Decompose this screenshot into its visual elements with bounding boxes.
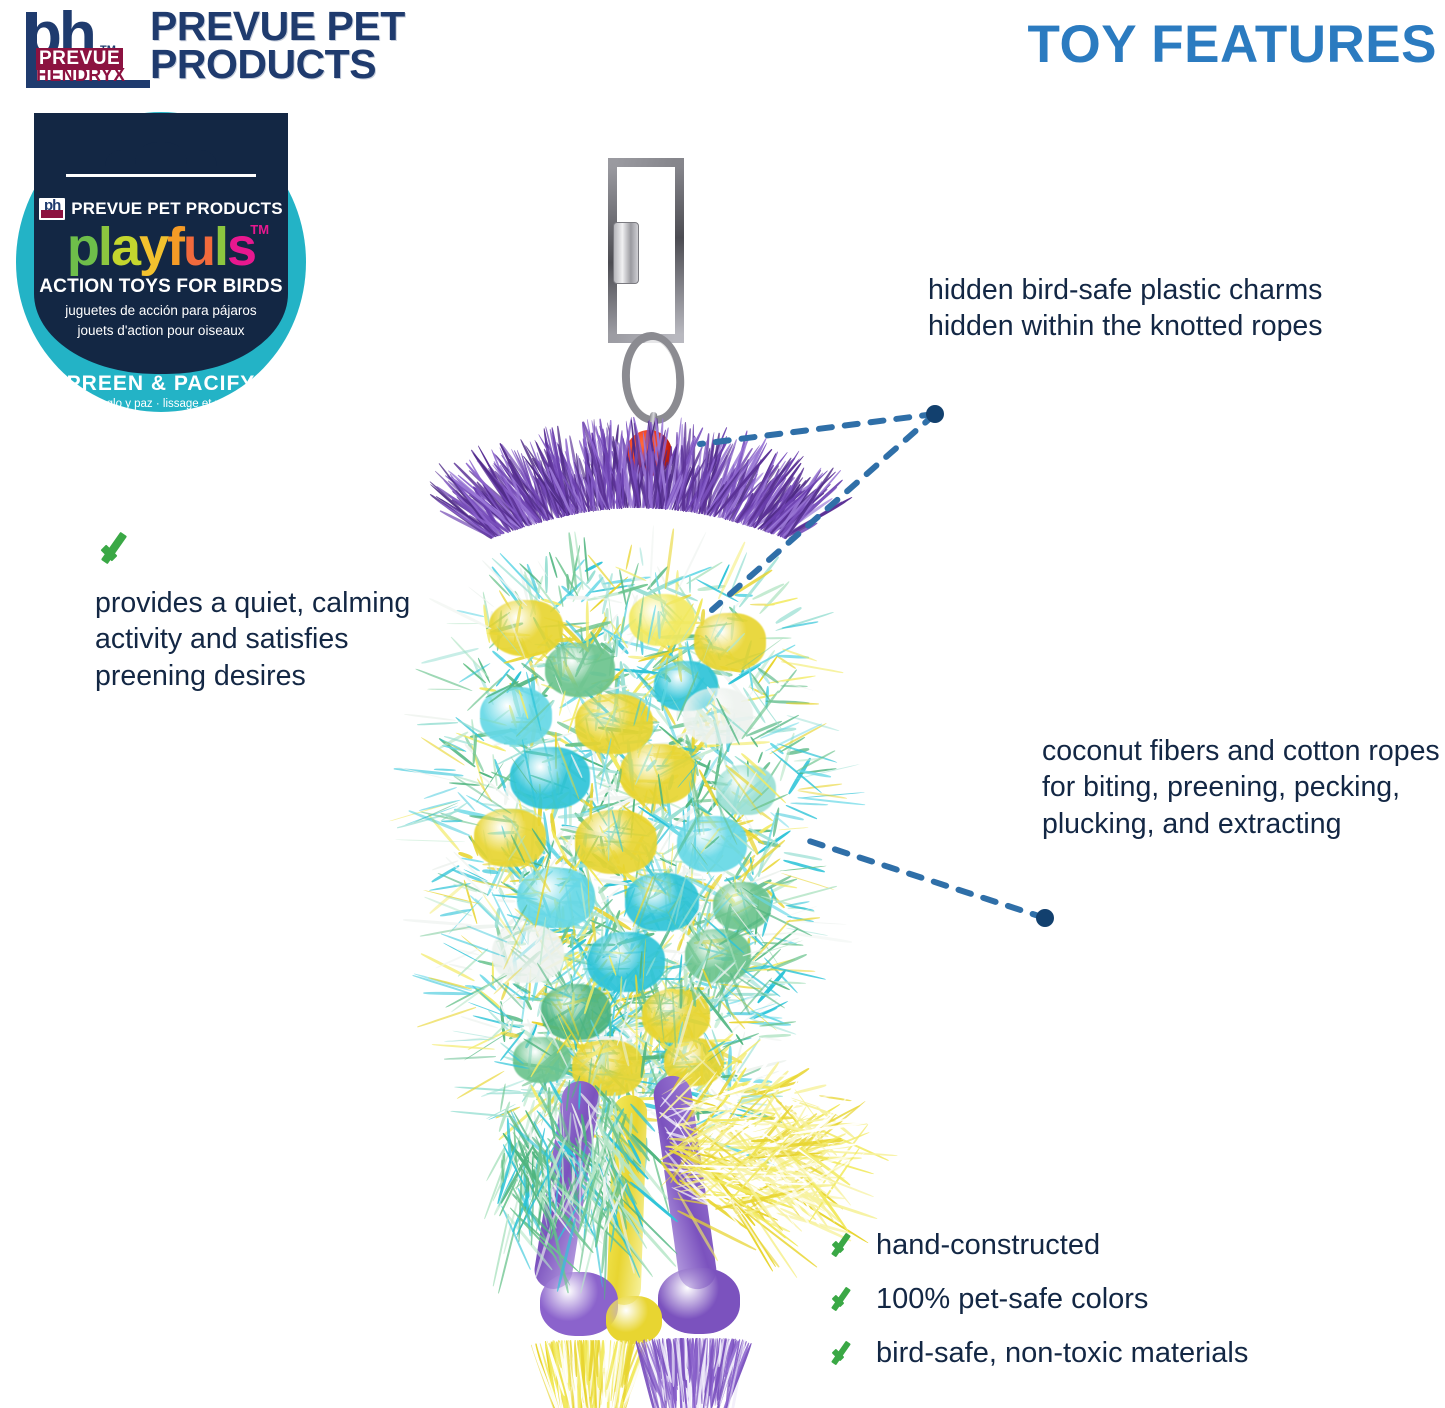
checklist-item: 100% pet-safe colors xyxy=(828,1282,1248,1316)
rope-wisp xyxy=(444,1056,496,1060)
rope-wisp xyxy=(784,851,822,861)
rope-wisp xyxy=(763,964,826,980)
badge-benefit-en: PREEN & PACIFY xyxy=(16,372,306,396)
prevue-hendryx-logo: ph TM PREVUE HENDRYX xyxy=(18,8,130,88)
leader-dot-charms xyxy=(926,405,944,423)
rope-wisp xyxy=(434,768,456,771)
knot-purple-right xyxy=(658,1268,740,1334)
leader-dot-coconut xyxy=(1036,909,1054,927)
badge-benefit-block: PREEN & PACIFY arreglo y paz · lissage e… xyxy=(16,372,306,410)
badge-tagline-en: ACTION TOYS FOR BIRDS xyxy=(16,276,306,298)
badge-tagline-fr: jouets d'action pour oiseaux xyxy=(16,322,306,340)
checklist-item: bird-safe, non-toxic materials xyxy=(828,1336,1248,1370)
product-image xyxy=(430,150,900,1400)
rope-wisp xyxy=(790,803,828,807)
rope-wisp xyxy=(418,722,459,726)
playfuls-badge: ph PREVUE PET PRODUCTS playfuls TM ACTIO… xyxy=(16,112,306,412)
rope-knot xyxy=(489,600,563,656)
badge-trademark: TM xyxy=(250,224,269,236)
rope-wisp xyxy=(763,1037,782,1042)
rope-knot xyxy=(575,810,657,874)
badge-tagline-es: juguetes de acción para pájaros xyxy=(16,302,306,320)
checklist-item: hand-constructed xyxy=(828,1228,1248,1262)
badge-brand-line: PREVUE PET PRODUCTS xyxy=(71,199,283,219)
rope-fiber xyxy=(482,869,498,874)
page-title: TOY FEATURES xyxy=(1028,14,1437,75)
badge-letter: u xyxy=(183,217,214,277)
badge-letter: l xyxy=(214,217,227,277)
checklist-item-label: 100% pet-safe colors xyxy=(876,1283,1148,1316)
badge-product-name: playfuls TM xyxy=(67,222,255,273)
badge-letter: y xyxy=(139,217,167,277)
checklist-item-label: bird-safe, non-toxic materials xyxy=(876,1337,1248,1370)
split-ring-highlight xyxy=(630,340,676,416)
rope-fiber xyxy=(497,899,515,903)
badge-letter: p xyxy=(67,217,98,277)
rope-wisp xyxy=(779,827,809,831)
rope-fiber xyxy=(758,752,765,764)
infographic-page: ph TM PREVUE HENDRYX PREVUE PET PRODUCTS… xyxy=(0,0,1445,1408)
logo-hendryx-text: HENDRYX xyxy=(36,66,125,86)
badge-product-name-letters: playfuls xyxy=(67,217,255,277)
badge-content: ph PREVUE PET PRODUCTS playfuls TM ACTIO… xyxy=(16,198,306,340)
brand-wordmark: PREVUE PET PRODUCTS xyxy=(150,8,405,83)
badge-letter: f xyxy=(167,217,183,277)
rope-wisp xyxy=(404,713,456,721)
rope-knot xyxy=(545,643,615,697)
rope-wisp xyxy=(423,787,457,800)
rope-wisp xyxy=(441,820,462,823)
badge-letter: l xyxy=(98,217,111,277)
rope-wisp xyxy=(586,601,589,647)
knot-yellow-center xyxy=(606,1296,662,1344)
annotation-charms: hidden bird-safe plastic charms hidden w… xyxy=(928,272,1378,345)
badge-benefit-translations: arreglo y paz · lissage et paix xyxy=(16,398,306,410)
checkmark-icon xyxy=(828,1282,862,1316)
checklist-item-label: hand-constructed xyxy=(876,1229,1100,1262)
brand-header: ph TM PREVUE HENDRYX PREVUE PET PRODUCTS xyxy=(18,8,405,88)
rope-knot xyxy=(510,747,590,809)
brand-line-2: PRODUCTS xyxy=(150,46,405,84)
rope-knot xyxy=(694,613,766,671)
checkmark-icon xyxy=(828,1228,862,1262)
rope-wisp xyxy=(786,702,819,704)
checkmark-icon xyxy=(98,528,142,572)
badge-mini-logo: ph xyxy=(39,198,65,220)
rope-wisp xyxy=(432,1044,495,1051)
rope-wisp xyxy=(657,611,661,639)
annotation-coconut-fibers: coconut fibers and cotton ropes for biti… xyxy=(1042,733,1442,842)
junction-fiber-yellow xyxy=(706,1119,744,1121)
rope-wisp xyxy=(468,586,495,608)
checkmark-icon xyxy=(828,1336,862,1370)
annotation-quiet-activity: provides a quiet, calming activity and s… xyxy=(95,585,455,694)
rope-wisp xyxy=(782,661,844,673)
rope-wisp xyxy=(798,783,842,790)
carabiner-barrel-lock xyxy=(613,222,639,284)
badge-mini-logo-text: ph xyxy=(44,198,60,213)
badge-letter: a xyxy=(111,217,139,277)
rope-fiber xyxy=(557,813,588,820)
feature-checklist: hand-constructed100% pet-safe colorsbird… xyxy=(828,1228,1248,1390)
